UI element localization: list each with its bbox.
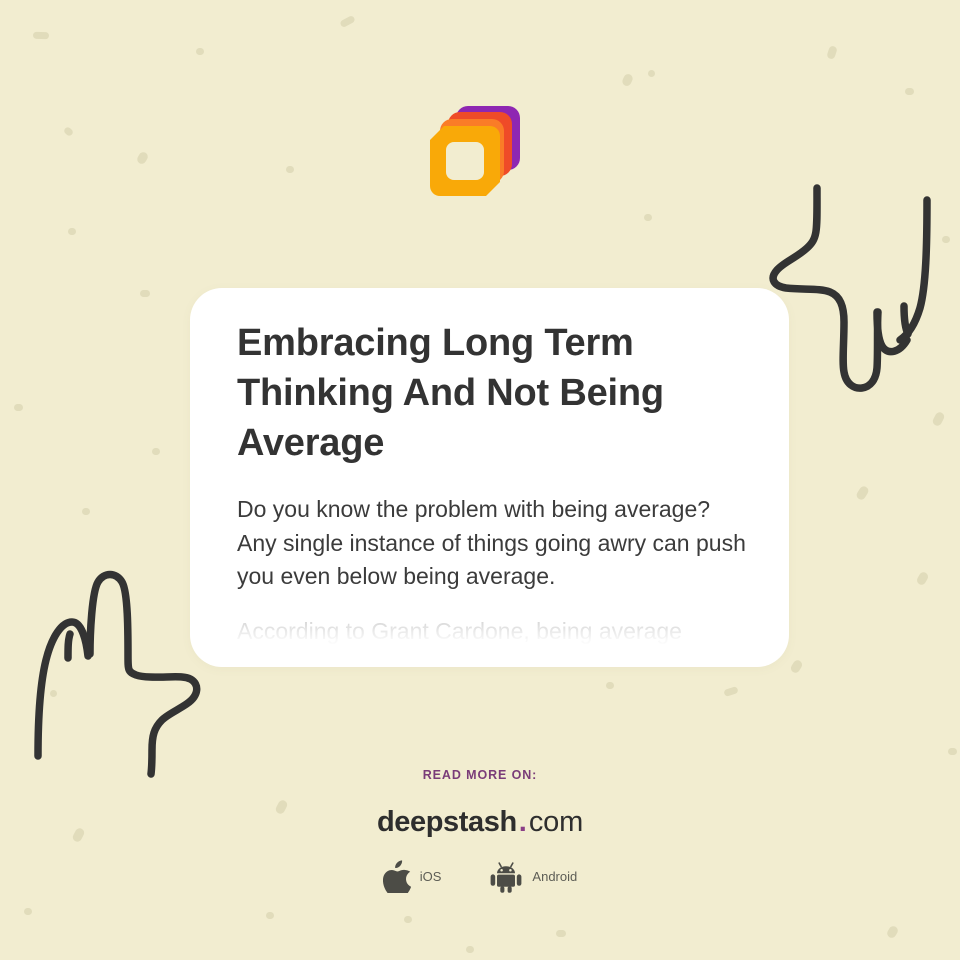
idea-card-content: Embracing Long Term Thinking And Not Bei…	[237, 318, 753, 648]
confetti-speck	[905, 88, 914, 95]
confetti-speck	[942, 236, 950, 243]
confetti-speck	[789, 659, 804, 675]
pointing-down-hand-icon	[760, 176, 960, 398]
confetti-speck	[723, 686, 738, 697]
app-store-badges: iOS And	[0, 860, 960, 893]
confetti-speck	[266, 912, 274, 919]
confetti-speck	[404, 916, 412, 923]
confetti-speck	[466, 946, 474, 953]
confetti-speck	[621, 73, 634, 88]
confetti-speck	[826, 45, 838, 60]
ios-badge-label: iOS	[420, 869, 442, 884]
confetti-speck	[886, 925, 900, 940]
brand-dot: .	[517, 806, 529, 838]
confetti-speck	[286, 166, 294, 173]
confetti-speck	[63, 126, 74, 137]
confetti-speck	[82, 508, 90, 515]
android-badge[interactable]: Android	[489, 861, 577, 893]
confetti-speck	[339, 15, 356, 28]
footer: READ MORE ON: deepstash.com iOS	[0, 768, 960, 893]
idea-card[interactable]: Embracing Long Term Thinking And Not Bei…	[190, 288, 789, 667]
confetti-speck	[196, 48, 204, 55]
confetti-speck	[68, 228, 76, 235]
page-title: Embracing Long Term Thinking And Not Bei…	[237, 318, 753, 468]
confetti-speck	[644, 214, 652, 221]
confetti-speck	[24, 908, 32, 915]
poster-canvas: Embracing Long Term Thinking And Not Bei…	[0, 0, 960, 960]
deepstash-logo	[430, 106, 520, 196]
confetti-speck	[931, 411, 946, 428]
confetti-speck	[140, 290, 150, 297]
confetti-speck	[606, 682, 614, 689]
brand-tld: com	[529, 806, 583, 838]
confetti-speck	[948, 748, 957, 755]
confetti-speck	[14, 404, 23, 411]
confetti-speck	[648, 70, 655, 77]
confetti-speck	[136, 151, 150, 166]
confetti-speck	[50, 690, 57, 697]
ios-badge[interactable]: iOS	[383, 860, 442, 893]
brand-name: deepstash	[377, 806, 517, 838]
read-more-label: READ MORE ON:	[0, 768, 960, 782]
confetti-speck	[152, 448, 160, 455]
idea-paragraph-2-faded: According to Grant Cardone, being averag…	[237, 615, 753, 649]
confetti-speck	[855, 485, 870, 502]
apple-icon	[383, 860, 411, 893]
pointing-up-hand-icon	[24, 560, 214, 786]
brand-wordmark[interactable]: deepstash.com	[0, 806, 960, 839]
idea-paragraph-1: Do you know the problem with being avera…	[237, 493, 753, 594]
confetti-speck	[915, 571, 929, 587]
android-badge-label: Android	[532, 869, 577, 884]
confetti-speck	[556, 930, 566, 937]
logo-center-cutout	[446, 142, 484, 180]
android-icon	[489, 861, 523, 893]
confetti-speck	[33, 32, 49, 40]
